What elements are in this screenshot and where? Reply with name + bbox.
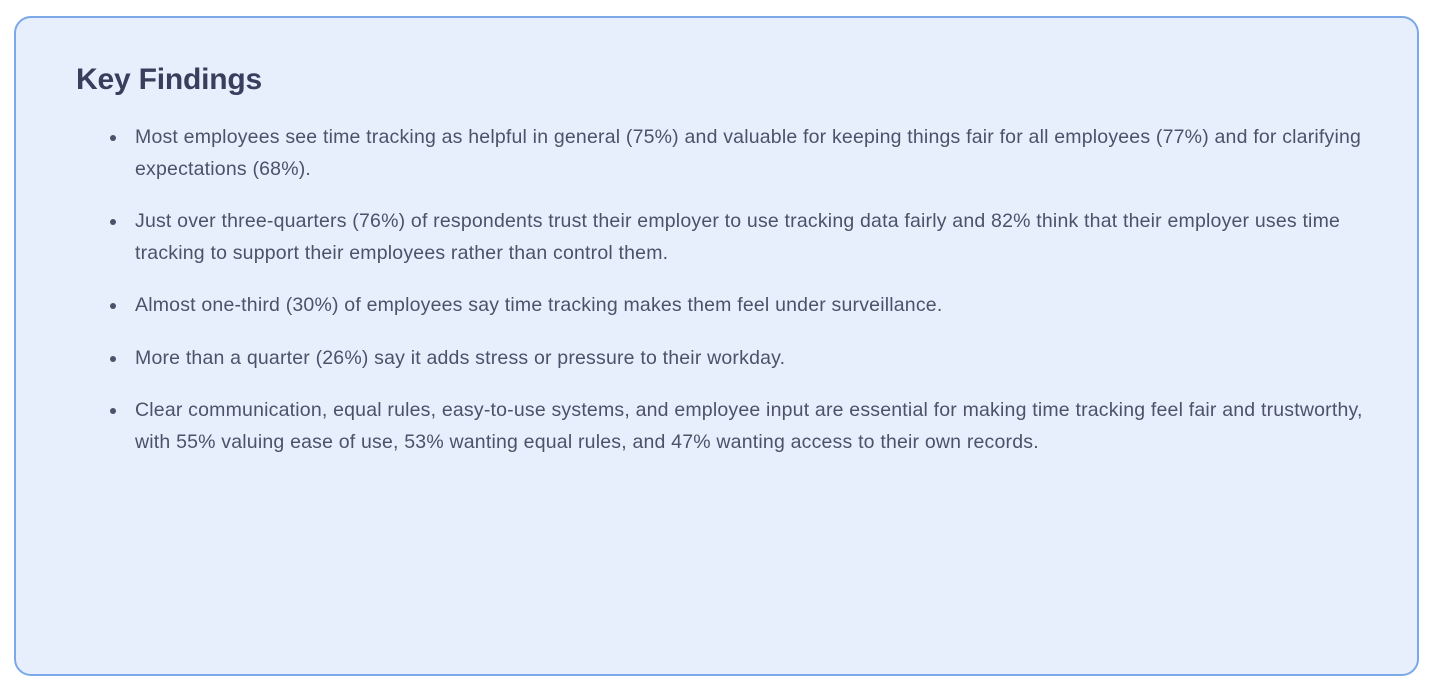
list-item: Most employees see time tracking as help… [110, 122, 1365, 185]
key-findings-list: Most employees see time tracking as help… [64, 122, 1365, 459]
key-findings-card: Key Findings Most employees see time tra… [14, 16, 1419, 676]
card-content: Key Findings Most employees see time tra… [16, 18, 1417, 459]
list-item: Clear communication, equal rules, easy-t… [110, 395, 1365, 458]
list-item: Just over three-quarters (76%) of respon… [110, 206, 1365, 269]
list-item: Almost one-third (30%) of employees say … [110, 290, 1365, 322]
page-title: Key Findings [64, 62, 1365, 98]
list-item: More than a quarter (26%) say it adds st… [110, 343, 1365, 375]
